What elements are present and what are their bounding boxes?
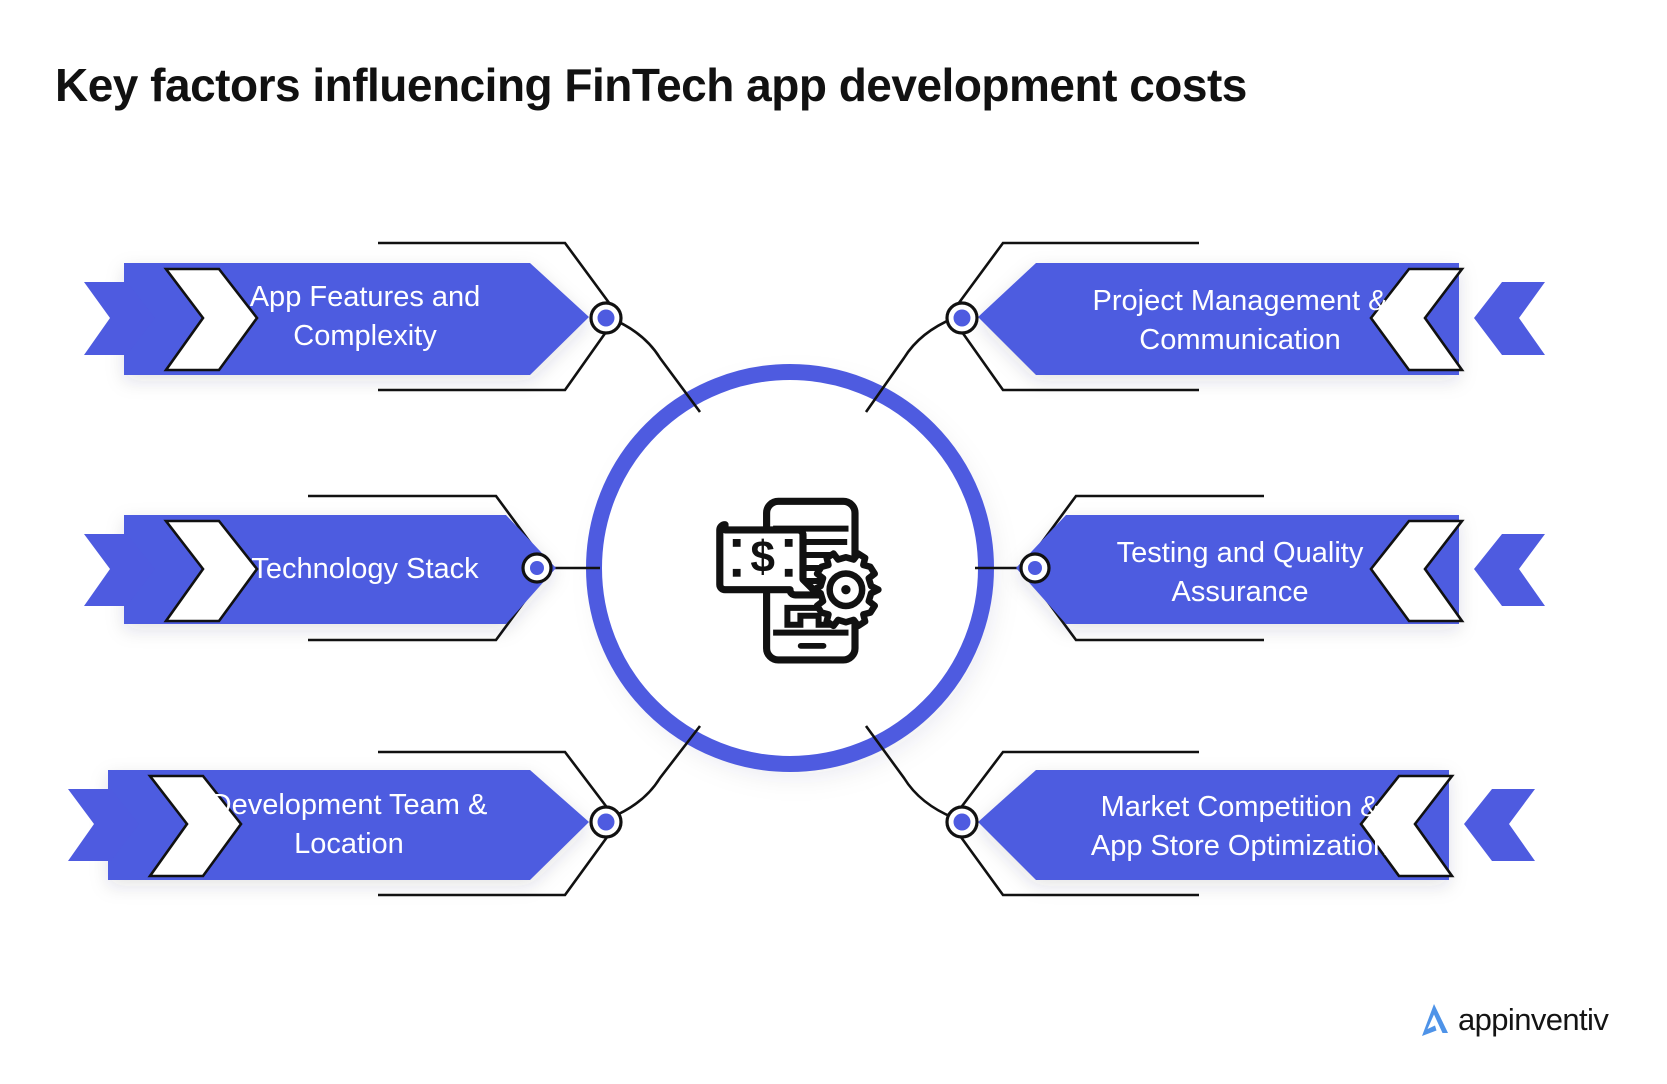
factor-project-management-and-communication[interactable] bbox=[866, 243, 1545, 412]
factor-technology-stack[interactable] bbox=[84, 496, 600, 640]
factor-market-competition-and-app-store-optimization[interactable] bbox=[866, 726, 1535, 895]
diagram-svg: $ bbox=[0, 0, 1667, 1084]
chevron-solid-icon bbox=[1474, 534, 1545, 606]
appinventiv-logo: appinventiv bbox=[1414, 1000, 1608, 1040]
connector-node-dot bbox=[954, 310, 971, 327]
svg-text:$: $ bbox=[750, 533, 775, 582]
appinventiv-a-arrow-logo bbox=[1414, 1000, 1454, 1040]
appinventiv-logo-text: appinventiv bbox=[1458, 1000, 1608, 1040]
chevron-solid-icon bbox=[1474, 282, 1545, 355]
infographic-canvas: Key factors influencing FinTech app deve… bbox=[0, 0, 1667, 1084]
connector-node-dot bbox=[598, 814, 615, 831]
factor-testing-and-quality-assurance[interactable] bbox=[975, 496, 1545, 640]
center-hub: $ bbox=[594, 372, 986, 764]
connector-node-dot bbox=[598, 310, 615, 327]
chevron-solid-icon bbox=[1464, 789, 1535, 861]
factor-development-team-and-location[interactable] bbox=[68, 726, 700, 895]
connector-node-dot bbox=[1028, 561, 1042, 575]
factor-app-features-and-complexity[interactable] bbox=[84, 243, 700, 412]
connector-node-dot bbox=[530, 561, 544, 575]
connector-node-dot bbox=[954, 814, 971, 831]
